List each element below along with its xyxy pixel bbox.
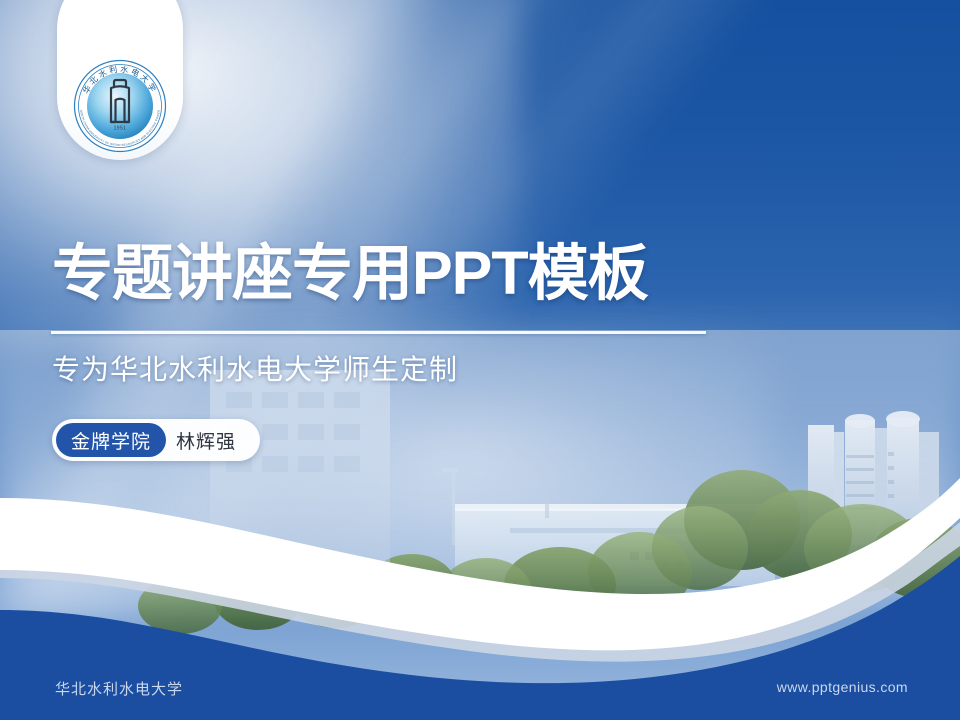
footer-university-name: 华北水利水电大学 — [55, 678, 183, 699]
presenter-pill: 金牌学院 林辉强 — [52, 419, 260, 461]
footer-website-url[interactable]: www.pptgenius.com — [777, 679, 908, 695]
presenter-name: 林辉强 — [176, 427, 240, 454]
logo-founding-year: 1951 — [114, 126, 127, 132]
ppt-cover-slide: 华北水利水电大学 NORTH CHINA UNIVERSITY OF WATER… — [0, 0, 960, 720]
title-divider-rule — [51, 331, 706, 334]
gold-academy-badge: 金牌学院 — [56, 423, 166, 457]
slide-title: 专题讲座专用PPT模板 — [52, 243, 648, 304]
university-logo-icon: 华北水利水电大学 NORTH CHINA UNIVERSITY OF WATER… — [70, 56, 170, 156]
slide-subtitle: 专为华北水利水电大学师生定制 — [52, 350, 458, 389]
